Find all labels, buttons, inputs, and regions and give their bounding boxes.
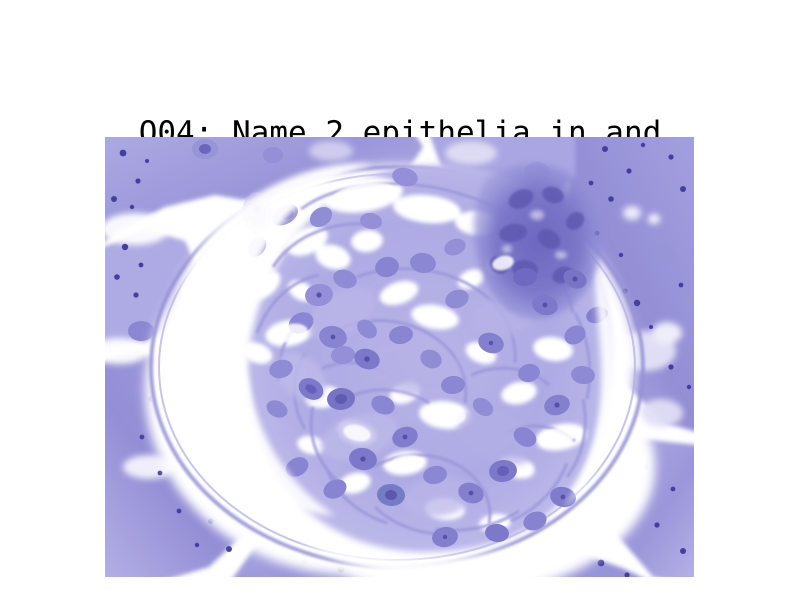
slide-canvas: Q04: Name 2 epithelia in and around this… (0, 0, 800, 600)
glomerulus-micrograph-svg (105, 137, 694, 577)
micrograph-image (105, 137, 694, 577)
micrograph-grain (105, 137, 694, 577)
